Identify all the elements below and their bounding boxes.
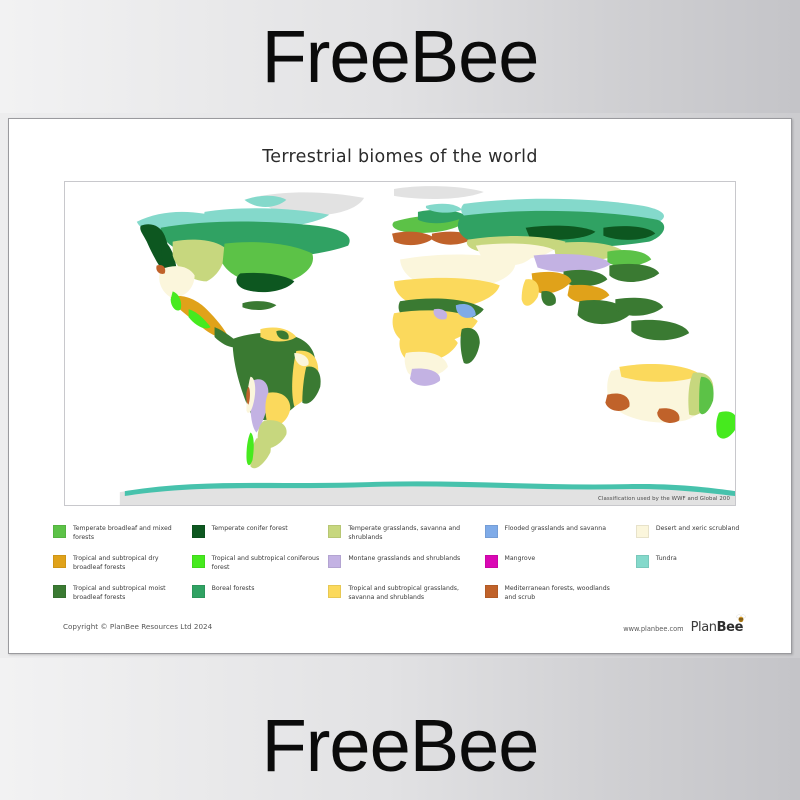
legend-item: Temperate broadleaf and mixed forests [53,524,192,554]
top-banner-text: FreeBee [262,14,539,99]
legend-swatch-icon [53,555,66,568]
legend-swatch-icon [485,555,498,568]
worksheet-card: Terrestrial biomes of the world [8,118,792,654]
legend-column-4: Flooded grasslands and savanna Mangrove … [485,524,636,614]
legend-label: Tropical and subtropical dry broadleaf f… [73,554,185,572]
legend-label: Tundra [656,554,677,563]
legend-label: Boreal forests [212,584,255,593]
legend-label: Tropical and subtropical moist broadleaf… [73,584,185,602]
brand-block[interactable]: www.planbee.com PlanBee [623,621,743,635]
legend-label: Mediterranean forests, woodlands and scr… [505,584,617,602]
bottom-banner: FreeBee [0,690,800,800]
legend-item: Montane grasslands and shrublands [328,554,484,584]
legend-item: Tropical and subtropical coniferous fore… [192,554,329,584]
legend-item: Tropical and subtropical grasslands, sav… [328,584,484,614]
bottom-banner-text: FreeBee [262,703,539,788]
legend-item: Tropical and subtropical moist broadleaf… [53,584,192,614]
legend-label: Montane grasslands and shrublands [348,554,460,563]
legend-label: Mangrove [505,554,536,563]
legend-item: Flooded grasslands and savanna [485,524,636,554]
legend-column-3: Temperate grasslands, savanna and shrubl… [328,524,484,614]
legend-swatch-icon [636,555,649,568]
legend-label: Desert and xeric scrubland [656,524,739,533]
legend-label: Flooded grasslands and savanna [505,524,606,533]
legend-label: Tropical and subtropical grasslands, sav… [348,584,460,602]
legend-label: Tropical and subtropical coniferous fore… [212,554,324,572]
planbee-logo[interactable]: PlanBee [691,621,743,635]
map-credit-text: Classification used by the WWF and Globa… [598,496,730,502]
legend-swatch-icon [328,555,341,568]
legend-item: Boreal forests [192,584,329,614]
biome-legend: Temperate broadleaf and mixed forests Tr… [53,524,753,614]
legend-label: Temperate conifer forest [212,524,288,533]
document-frame: Terrestrial biomes of the world [0,113,800,658]
legend-item: Mangrove [485,554,636,584]
legend-column-1: Temperate broadleaf and mixed forests Tr… [53,524,192,614]
top-banner: FreeBee [0,0,800,113]
bee-icon [736,614,746,623]
legend-label: Temperate grasslands, savanna and shrubl… [348,524,460,542]
legend-swatch-icon [53,585,66,598]
legend-swatch-icon [485,525,498,538]
website-url[interactable]: www.planbee.com [623,625,683,635]
legend-swatch-icon [328,585,341,598]
map-svg [65,182,735,505]
world-biome-map: Classification used by the WWF and Globa… [64,181,736,506]
legend-label: Temperate broadleaf and mixed forests [73,524,185,542]
legend-swatch-icon [192,555,205,568]
legend-item: Desert and xeric scrubland [636,524,753,554]
legend-swatch-icon [636,525,649,538]
legend-swatch-icon [192,585,205,598]
copyright-text: Copyright © PlanBee Resources Ltd 2024 [63,622,212,631]
legend-item: Tropical and subtropical dry broadleaf f… [53,554,192,584]
legend-item: Mediterranean forests, woodlands and scr… [485,584,636,614]
legend-column-5: Desert and xeric scrubland Tundra [636,524,753,614]
legend-swatch-icon [485,585,498,598]
legend-column-2: Temperate conifer forest Tropical and su… [192,524,329,614]
legend-item: Tundra [636,554,753,584]
legend-item: Temperate conifer forest [192,524,329,554]
legend-swatch-icon [328,525,341,538]
legend-swatch-icon [192,525,205,538]
legend-item: Temperate grasslands, savanna and shrubl… [328,524,484,554]
logo-plan-text: Plan [691,620,717,635]
legend-swatch-icon [53,525,66,538]
page-title: Terrestrial biomes of the world [9,147,791,167]
